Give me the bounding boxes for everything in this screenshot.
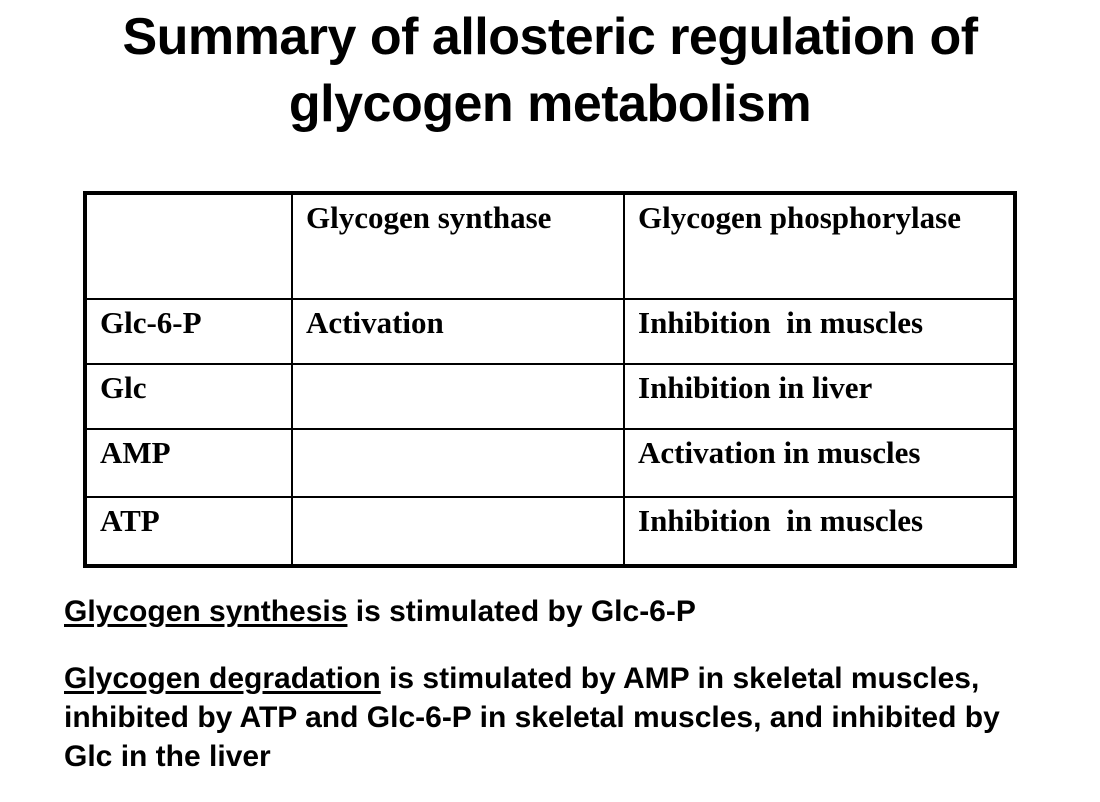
table-cell-synthase: Activation xyxy=(292,299,624,364)
page-title: Summary of allosteric regulation of glyc… xyxy=(0,4,1100,138)
table-row: ATP Inhibition in muscles xyxy=(85,497,1015,566)
table-cell-phosphorylase: Inhibition in muscles xyxy=(624,497,1015,566)
note-synthesis-text: is stimulated by Glc-6-P xyxy=(347,595,695,628)
note-synthesis-term: Glycogen synthesis xyxy=(64,595,347,628)
table-cell-effector: Glc xyxy=(85,364,292,429)
table-cell-phosphorylase: Activation in muscles xyxy=(624,429,1015,497)
table-row: Glc-6-P Activation Inhibition in muscles xyxy=(85,299,1015,364)
table-cell-effector: ATP xyxy=(85,497,292,566)
note-degradation-term: Glycogen degradation xyxy=(64,662,381,695)
page-title-line-2: glycogen metabolism xyxy=(0,71,1100,138)
page-title-line-1: Summary of allosteric regulation of xyxy=(0,4,1100,71)
table-cell-synthase xyxy=(292,497,624,566)
table-cell-effector: Glc-6-P xyxy=(85,299,292,364)
note-glycogen-degradation: Glycogen degradation is stimulated by AM… xyxy=(64,659,1024,776)
table-header-effector xyxy=(85,193,292,299)
table-row: Glc Inhibition in liver xyxy=(85,364,1015,429)
table-row: AMP Activation in muscles xyxy=(85,429,1015,497)
table-header-row: Glycogen synthase Glycogen phosphorylase xyxy=(85,193,1015,299)
table-cell-phosphorylase: Inhibition in liver xyxy=(624,364,1015,429)
table-cell-synthase xyxy=(292,364,624,429)
table-cell-synthase xyxy=(292,429,624,497)
table-header-glycogen-phosphorylase: Glycogen phosphorylase xyxy=(624,193,1015,299)
table-cell-phosphorylase: Inhibition in muscles xyxy=(624,299,1015,364)
note-glycogen-synthesis: Glycogen synthesis is stimulated by Glc-… xyxy=(64,592,1054,631)
allosteric-regulation-table: Glycogen synthase Glycogen phosphorylase… xyxy=(83,191,1017,568)
table-header-glycogen-synthase: Glycogen synthase xyxy=(292,193,624,299)
table-cell-effector: AMP xyxy=(85,429,292,497)
